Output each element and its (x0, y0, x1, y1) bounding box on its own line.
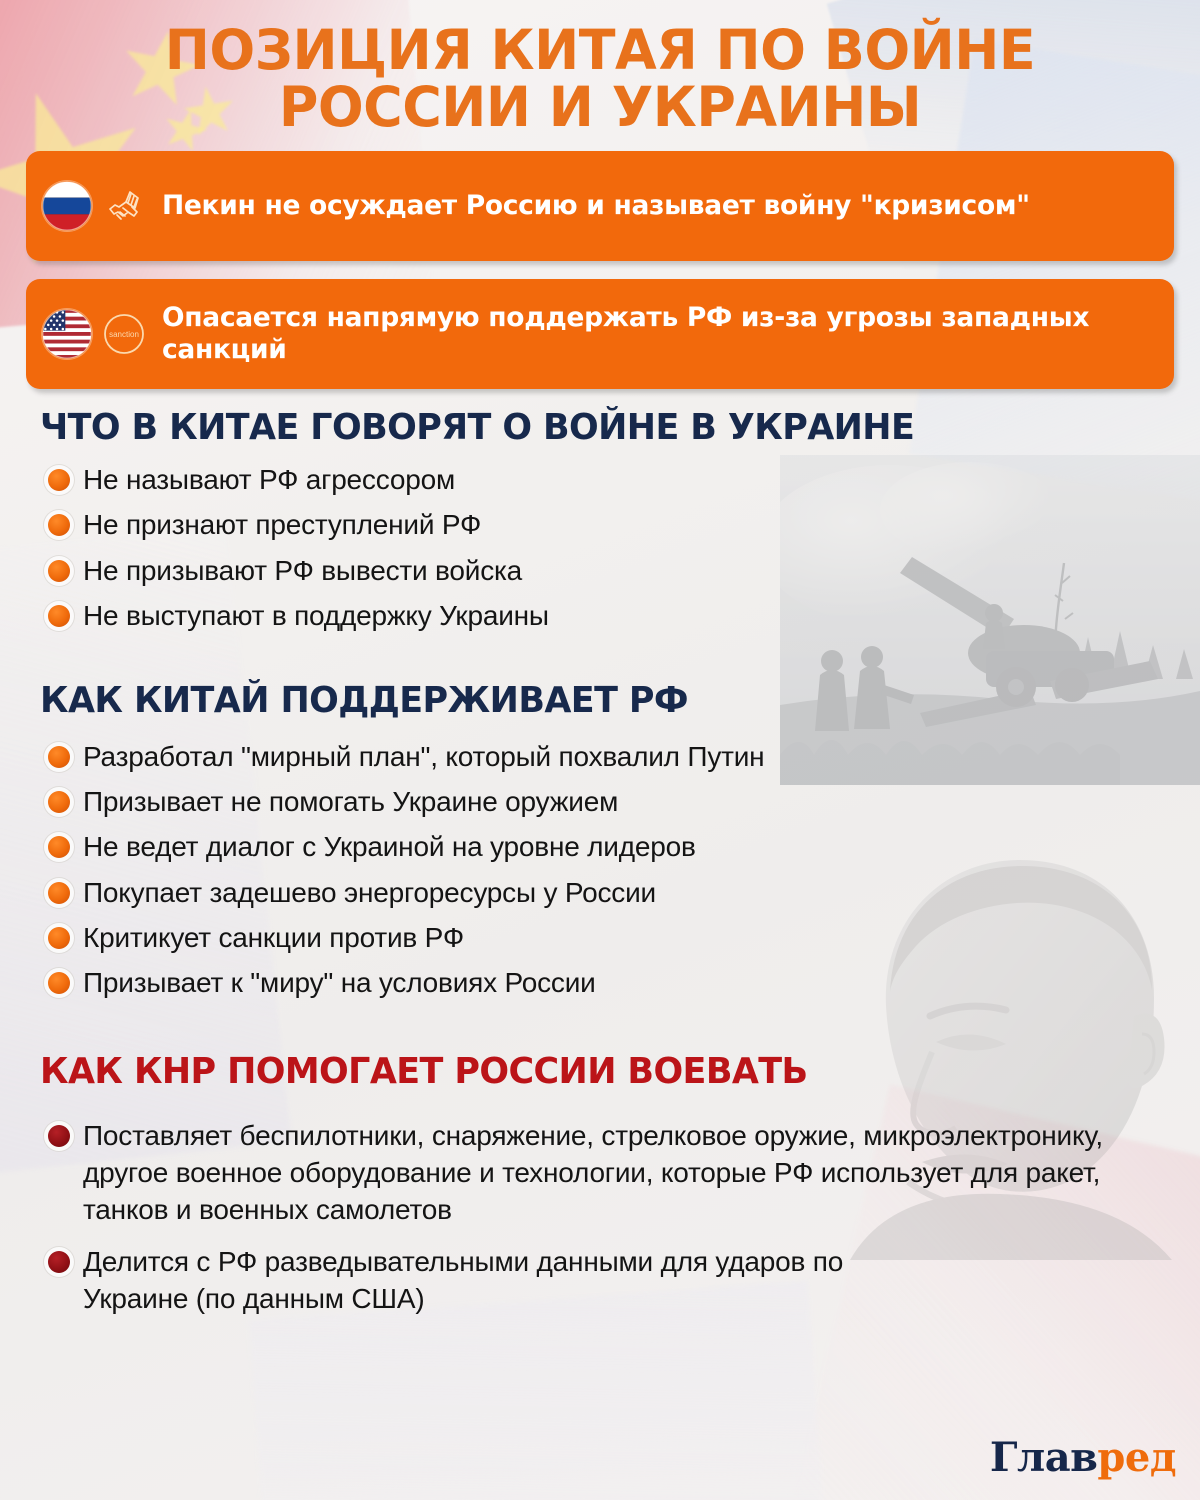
list-item: Не ведет диалог с Украиной на уровне лид… (48, 828, 1200, 865)
list-item-label: Не ведет диалог с Украиной на уровне лид… (83, 828, 696, 865)
handshake-icon (100, 182, 148, 230)
bullet-dot-icon (48, 746, 70, 768)
russia-flag-circle-icon (42, 181, 92, 231)
list-item-label: Не признают преступлений РФ (83, 506, 481, 543)
logo-part-a: Глав (990, 1434, 1098, 1481)
list-item-label: Не выступают в поддержку Украины (83, 597, 549, 634)
bullet-dot-icon (48, 1125, 70, 1147)
list-item-label: Разработал "мирный план", который похвал… (83, 738, 764, 775)
list-item: Поставляет беспилотники, снаряжение, стр… (48, 1117, 1200, 1229)
banner-icon-group: sanction (42, 309, 148, 359)
list-item-label: Призывает к "миру" на условиях России (83, 964, 596, 1001)
bullet-dot-icon (48, 791, 70, 813)
bullet-dot-icon (48, 1251, 70, 1273)
list-item-label: Делится с РФ разведывательными данными д… (83, 1243, 943, 1317)
poster-title: ПОЗИЦИЯ КИТАЯ ПО ВОЙНЕ РОССИИ И УКРАИНЫ (0, 0, 1200, 135)
sanction-stamp-label: sanction (109, 330, 139, 339)
bullet-dot-icon (48, 972, 70, 994)
banner-icon-group (42, 181, 148, 231)
list-item: Разработал "мирный план", который похвал… (48, 738, 1200, 775)
list-item: Призывает не помогать Украине оружием (48, 783, 1200, 820)
section-heading: КАК КНР ПОМОГАЕТ РОССИИ ВОЕВАТЬ (40, 1053, 1165, 1091)
list-item: Не называют РФ агрессором (48, 461, 1200, 498)
section-bullet-list: Разработал "мирный план", который похвал… (40, 738, 1200, 1001)
usa-flag-circle-icon (42, 309, 92, 359)
logo-part-b: ред (1097, 1434, 1176, 1481)
section-bullet-list: Не называют РФ агрессором Не признают пр… (40, 461, 1200, 634)
list-item-label: Покупает задешево энергоресурсы у России (83, 874, 656, 911)
list-item: Призывает к "миру" на условиях России (48, 964, 1200, 1001)
section-how-china-supports-rf: КАК КИТАЙ ПОДДЕРЖИВАЕТ РФ Разработал "ми… (40, 682, 1200, 1001)
poster-title-line-1: ПОЗИЦИЯ КИТАЯ ПО ВОЙНЕ (12, 22, 1188, 79)
poster-title-line-2: РОССИИ И УКРАИНЫ (12, 79, 1188, 136)
bullet-dot-icon (48, 514, 70, 536)
list-item: Не выступают в поддержку Украины (48, 597, 1200, 634)
section-bullet-list: Поставляет беспилотники, снаряжение, стр… (40, 1117, 1200, 1317)
list-item: Делится с РФ разведывательными данными д… (48, 1243, 1200, 1317)
bullet-dot-icon (48, 605, 70, 627)
banner-beijing-not-condemning: Пекин не осуждает Россию и называет войн… (26, 151, 1174, 261)
glavred-logo[interactable]: Главред (990, 1438, 1176, 1478)
key-points-banners: Пекин не осуждает Россию и называет войн… (26, 151, 1174, 389)
section-heading: КАК КИТАЙ ПОДДЕРЖИВАЕТ РФ (40, 682, 1165, 720)
sanction-stamp-icon: sanction (100, 310, 148, 358)
banner-fears-western-sanctions: sanction Опасается напрямую поддержать Р… (26, 279, 1174, 389)
section-what-china-says: ЧТО В КИТАЕ ГОВОРЯТ О ВОЙНЕ В УКРАИНЕ Не… (40, 409, 1200, 634)
bullet-dot-icon (48, 469, 70, 491)
list-item-label: Не призывают РФ вывести войска (83, 552, 522, 589)
list-item: Не признают преступлений РФ (48, 506, 1200, 543)
section-heading: ЧТО В КИТАЕ ГОВОРЯТ О ВОЙНЕ В УКРАИНЕ (40, 409, 1165, 447)
bullet-dot-icon (48, 836, 70, 858)
list-item-label: Призывает не помогать Украине оружием (83, 783, 618, 820)
list-item: Не призывают РФ вывести войска (48, 552, 1200, 589)
list-item-label: Критикует санкции против РФ (83, 919, 464, 956)
bullet-dot-icon (48, 882, 70, 904)
banner-text: Опасается напрямую поддержать РФ из-за у… (162, 302, 1158, 367)
section-how-prc-helps-russia-fight: КАК КНР ПОМОГАЕТ РОССИИ ВОЕВАТЬ Поставля… (40, 1053, 1200, 1317)
list-item: Покупает задешево энергоресурсы у России (48, 874, 1200, 911)
infographic-poster: ПОЗИЦИЯ КИТАЯ ПО ВОЙНЕ РОССИИ И УКРАИНЫ (0, 0, 1200, 1500)
bullet-dot-icon (48, 927, 70, 949)
bullet-dot-icon (48, 560, 70, 582)
list-item-label: Поставляет беспилотники, снаряжение, стр… (83, 1117, 1103, 1229)
list-item: Критикует санкции против РФ (48, 919, 1200, 956)
banner-text: Пекин не осуждает Россию и называет войн… (162, 190, 1030, 222)
list-item-label: Не называют РФ агрессором (83, 461, 455, 498)
